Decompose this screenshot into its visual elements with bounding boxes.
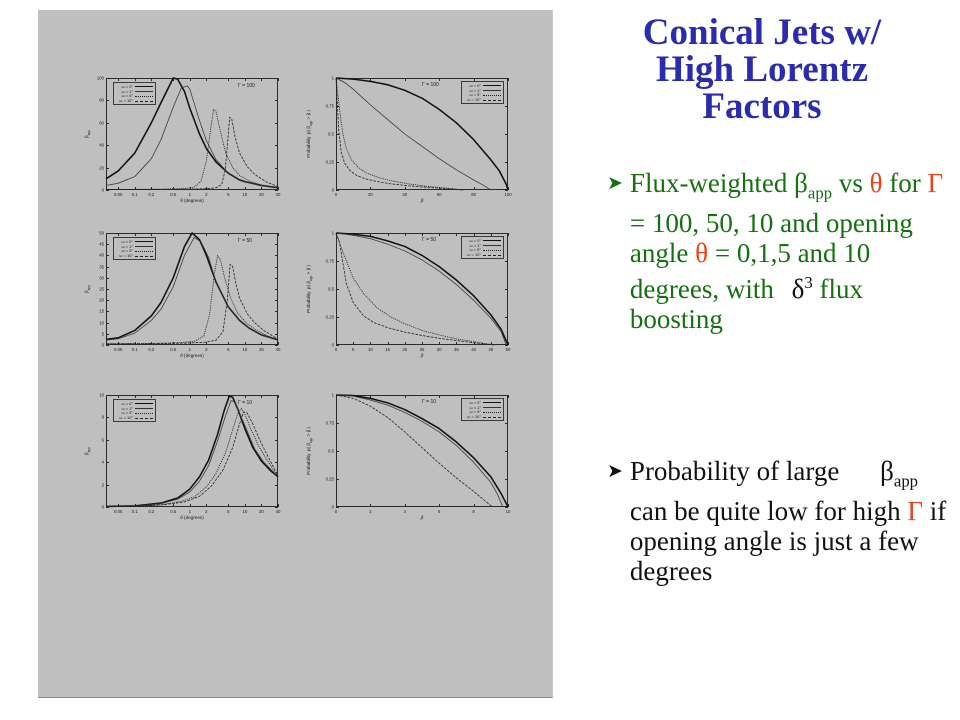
plot-panel-prob-gamma10: 024681000.250.50.751βProbability p( βapp…	[38, 10, 552, 697]
x-tick-label: 2	[369, 509, 371, 514]
figure-image-block: 0.050.10.20.5125102040020406080100θ (deg…	[38, 10, 553, 698]
y-tick-label: 0	[320, 505, 334, 510]
series-line	[336, 395, 508, 507]
y-axis-label: Probability p( βapp > β )	[306, 395, 313, 507]
bullet-arrow-icon: ➤	[607, 168, 623, 198]
bullet-arrow-icon: ➤	[607, 456, 623, 486]
x-tick-label: 8	[472, 509, 474, 514]
y-tick-label: 0.75	[320, 421, 334, 426]
y-tick-label: 0.25	[320, 477, 334, 482]
title-line-1: Conical Jets w/	[566, 14, 958, 51]
slide-title: Conical Jets w/ High Lorentz Factors	[566, 14, 958, 125]
title-line-3: Factors	[566, 88, 958, 125]
x-tick	[508, 395, 509, 398]
series-line	[336, 395, 493, 507]
bullet-1-text: Flux-weighted βapp vs θ for Γ = 100, 50,…	[630, 168, 952, 334]
series-line	[336, 395, 503, 507]
bullet-2-text: Probability of large βapp can be quite l…	[630, 456, 952, 586]
x-tick-label: 10	[506, 509, 511, 514]
x-tick-label: 0	[335, 509, 337, 514]
x-tick-label: 4	[404, 509, 406, 514]
y-tick	[336, 507, 339, 508]
bullet-item-probability: ➤ Probability of large βapp can be quite…	[607, 456, 952, 586]
plot-curves	[336, 395, 508, 507]
y-tick-label: 0.5	[320, 449, 334, 454]
x-tick-label: 6	[438, 509, 440, 514]
bullet-item-flux-weighted: ➤ Flux-weighted βapp vs θ for Γ = 100, 5…	[607, 168, 952, 334]
x-axis-label: β	[336, 515, 508, 520]
y-tick-label: 1	[320, 393, 334, 398]
title-line-2: High Lorentz	[566, 51, 958, 88]
